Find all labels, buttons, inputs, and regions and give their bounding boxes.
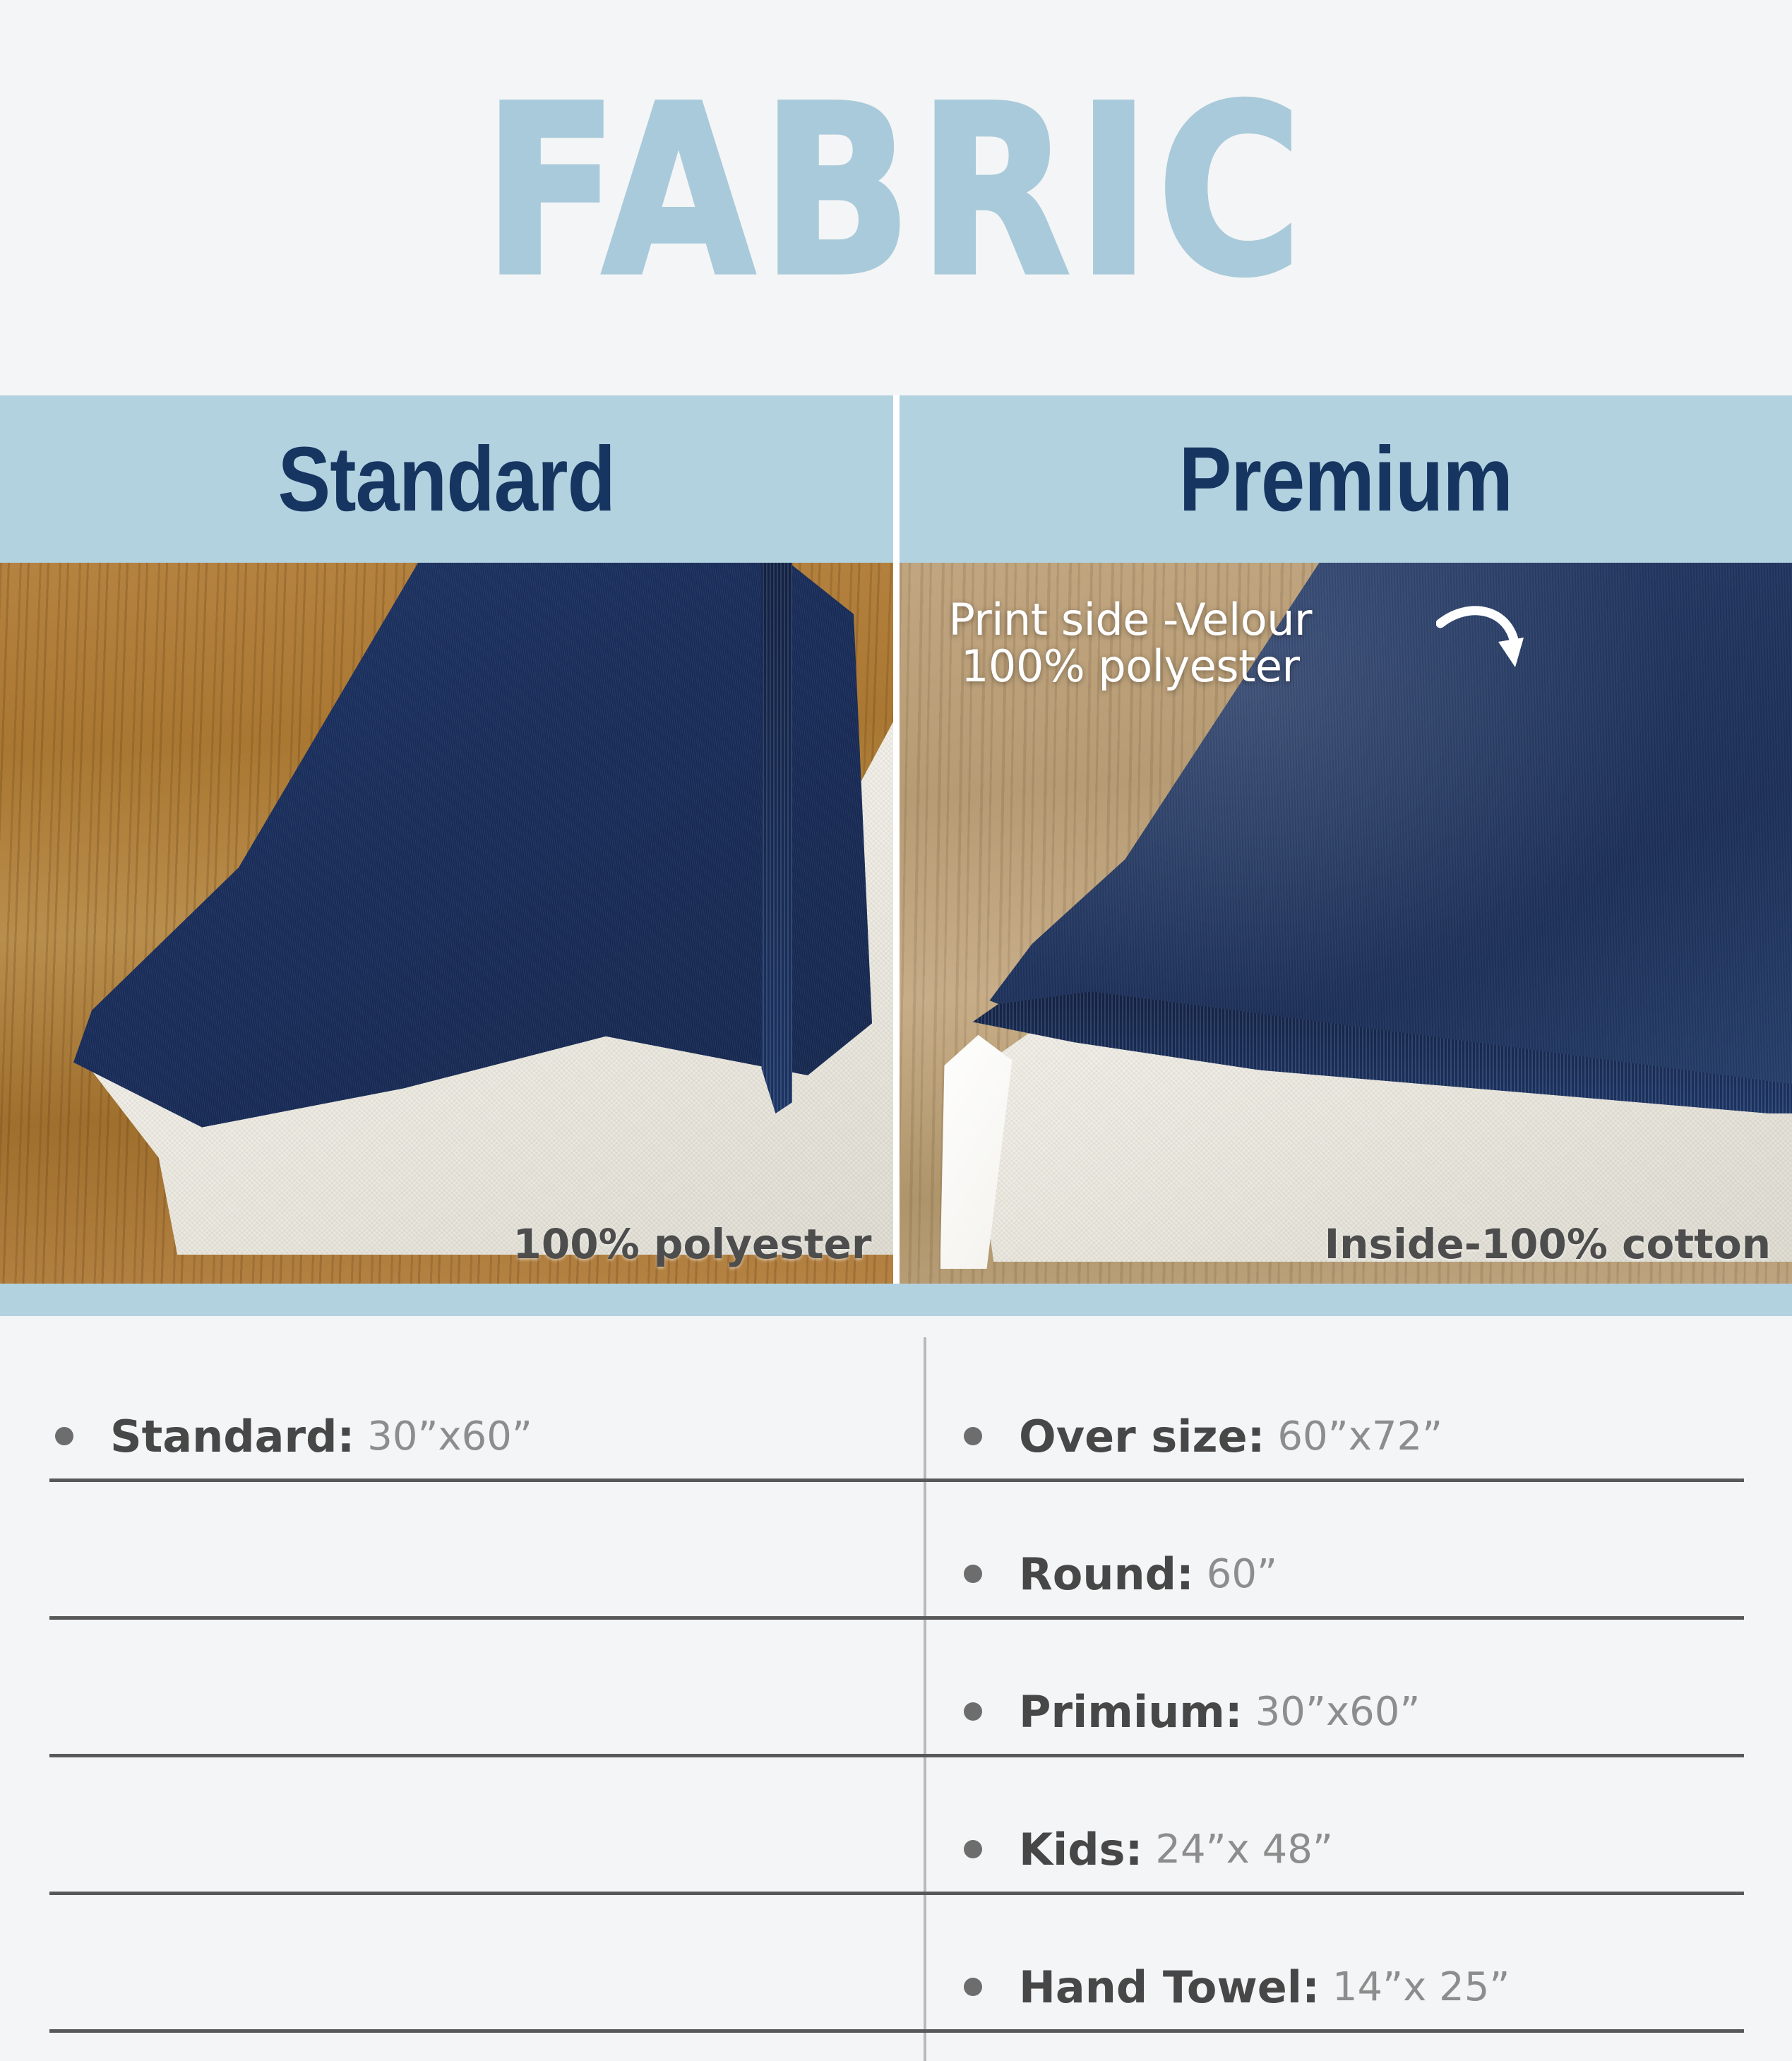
spec-value: 60” (1207, 1551, 1277, 1597)
spec-value: 14”x 25” (1332, 1964, 1510, 2010)
spec-label: Round: (1019, 1548, 1194, 1600)
panel-standard-title: Standard (278, 426, 615, 532)
spec-column-divider (924, 1337, 926, 2061)
page-header: FABRIC (0, 0, 1792, 395)
size-spec-table: Standard: 30”x60” Over size: 60”x72” Rou… (0, 1316, 1792, 2061)
spec-row-divider (49, 1478, 1744, 1482)
panel-premium-title: Premium (1179, 426, 1512, 532)
spec-label: Over size: (1019, 1411, 1265, 1462)
spec-label: Hand Towel: (1019, 1961, 1320, 2013)
bullet-icon (964, 1565, 982, 1583)
bullet-icon (55, 1427, 73, 1445)
section-separator-bar (0, 1284, 1792, 1316)
comparison-panels: Standard 100% polyester Premium (0, 395, 1792, 1284)
spec-value: 24”x 48” (1155, 1827, 1332, 1872)
panel-standard: Standard 100% polyester (0, 395, 893, 1284)
panel-standard-caption: 100% polyester (513, 1220, 872, 1268)
spec-item-hand-towel[interactable]: Hand Towel: 14”x 25” (964, 1944, 1510, 2029)
panel-premium-caption: Inside-100% cotton (1325, 1220, 1771, 1268)
panel-standard-header: Standard (0, 395, 893, 563)
spec-value: 60”x72” (1277, 1414, 1442, 1459)
spec-row-divider (49, 1616, 1744, 1620)
spec-value: 30”x60” (1255, 1689, 1421, 1735)
panel-premium: Premium Print side -Velour 100% polyeste… (900, 395, 1792, 1284)
spec-item-over-size[interactable]: Over size: 60”x72” (964, 1394, 1442, 1478)
spec-row-divider (49, 1754, 1744, 1757)
spec-value: 30”x60” (367, 1414, 532, 1459)
spec-item-primium[interactable]: Primium: 30”x60” (964, 1669, 1420, 1754)
spec-item-kids[interactable]: Kids: 24”x 48” (964, 1807, 1333, 1892)
spec-label: Standard: (110, 1411, 354, 1462)
bullet-icon (964, 1702, 982, 1721)
bullet-icon (964, 1840, 982, 1858)
page-title: FABRIC (484, 76, 1309, 320)
bullet-icon (964, 1427, 982, 1445)
spec-item-round[interactable]: Round: 60” (964, 1531, 1277, 1616)
curved-arrow-down-right-icon (1436, 599, 1528, 684)
spec-row-divider (49, 1892, 1744, 1895)
spec-item-standard[interactable]: Standard: 30”x60” (55, 1394, 532, 1478)
spec-label: Kids: (1019, 1824, 1142, 1875)
panel-premium-photo: Print side -Velour 100% polyester Inside… (900, 563, 1792, 1284)
premium-print-side-note: Print side -Velour 100% polyester (949, 597, 1313, 689)
panel-premium-header: Premium (900, 395, 1792, 563)
panel-divider-gap (893, 395, 900, 1284)
panel-standard-photo: 100% polyester (0, 563, 893, 1284)
spec-label: Primium: (1019, 1686, 1243, 1738)
bullet-icon (964, 1978, 982, 1996)
spec-row-divider (49, 2029, 1744, 2033)
